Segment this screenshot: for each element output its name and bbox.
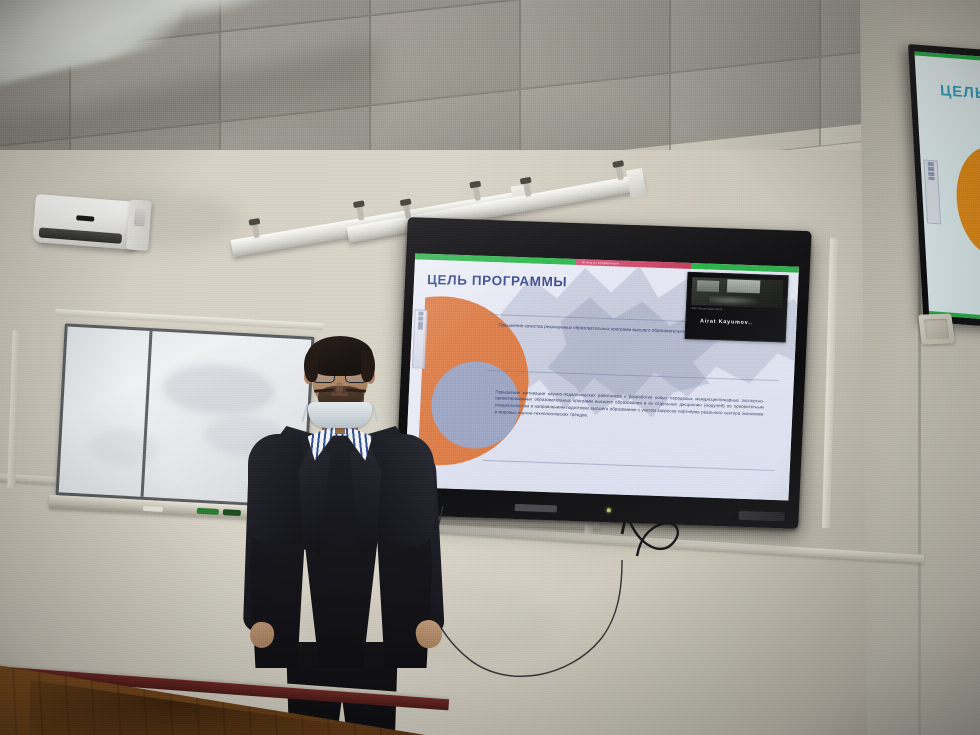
display-screen[interactable]: Выход из конференции ЦЕЛЬ ПРОГРАММЫ Повы…	[405, 253, 799, 500]
secondary-slide-toolbar[interactable]	[924, 160, 941, 224]
display-brand-logo	[515, 504, 557, 512]
whiteboard-panel-divider	[140, 331, 152, 497]
participant-name-suffix: ...	[748, 320, 752, 325]
participant-name: Airat Kayumov...	[700, 319, 752, 327]
marker-green	[197, 508, 219, 515]
marker-dark	[223, 509, 241, 516]
air-conditioner	[32, 194, 139, 250]
participant-name-text: Airat Kayumov	[700, 319, 749, 327]
participant-sub-label: КФУ Презентации вкл В...	[692, 307, 725, 311]
classroom-photo-scene: Выход из конференции ЦЕЛЬ ПРОГРАММЫ Повы…	[0, 0, 980, 735]
participant-video-tile[interactable]: КФУ Презентации вкл В... Airat Kayumov..…	[684, 272, 789, 342]
slide-paragraph-2: Повышение мотивации научно-педагогически…	[494, 389, 764, 425]
presentation-slide[interactable]: ЦЕЛЬ ПРОГРАММЫ Повышение качества реализ…	[405, 259, 799, 500]
marker-white	[143, 506, 163, 512]
slide-title: ЦЕЛЬ ПРОГРАММЫ	[427, 273, 568, 290]
face-mask-icon	[308, 402, 372, 428]
secondary-slide-circle	[953, 144, 980, 260]
secondary-slide-title: ЦЕЛЬ	[940, 82, 980, 102]
interactive-display[interactable]: Выход из конференции ЦЕЛЬ ПРОГРАММЫ Повы…	[394, 217, 811, 529]
participant-webcam-feed	[691, 277, 784, 308]
display-control-buttons[interactable]	[738, 511, 784, 522]
wall-socket[interactable]	[918, 314, 955, 345]
